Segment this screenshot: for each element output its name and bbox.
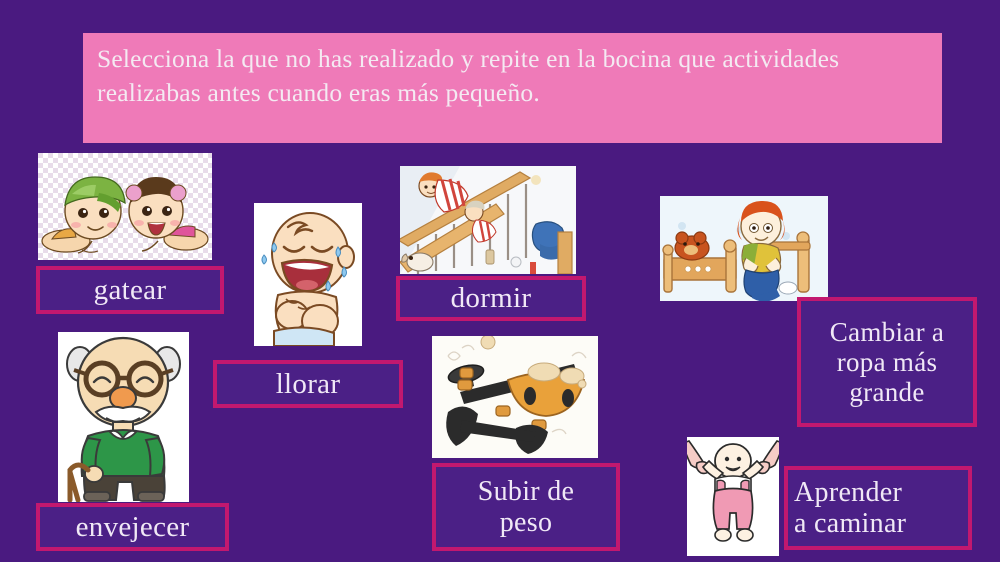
label-gatear[interactable]: gatear xyxy=(36,266,224,314)
instruction-text: Selecciona la que no has realizado y rep… xyxy=(97,42,928,110)
picture-balance-scale[interactable] xyxy=(432,336,598,458)
label-subir-de-peso[interactable]: Subir de peso xyxy=(432,463,620,551)
balance-scale-image xyxy=(432,336,598,458)
child-small-bed-image xyxy=(660,196,828,301)
crawling-babies-image xyxy=(38,153,212,260)
picture-baby-walking[interactable] xyxy=(687,437,779,556)
picture-crawling-babies[interactable] xyxy=(38,153,212,260)
label-aprender-a-caminar[interactable]: Aprender a caminar xyxy=(784,466,972,550)
picture-stairs-child[interactable] xyxy=(400,166,576,274)
label-envejecer[interactable]: envejecer xyxy=(36,503,229,551)
old-man-image xyxy=(58,332,189,502)
label-dormir[interactable]: dormir xyxy=(396,276,586,321)
baby-walking-image xyxy=(687,437,779,556)
picture-crying-baby[interactable] xyxy=(254,203,362,346)
instruction-banner: Selecciona la que no has realizado y rep… xyxy=(83,33,942,143)
label-cambiar-ropa[interactable]: Cambiar a ropa más grande xyxy=(797,297,977,427)
stairs-child-image xyxy=(400,166,576,274)
crying-baby-image xyxy=(254,203,362,346)
label-llorar[interactable]: llorar xyxy=(213,360,403,408)
picture-child-small-bed[interactable] xyxy=(660,196,828,301)
picture-old-man[interactable] xyxy=(58,332,189,502)
slide-canvas: Selecciona la que no has realizado y rep… xyxy=(0,0,1000,562)
